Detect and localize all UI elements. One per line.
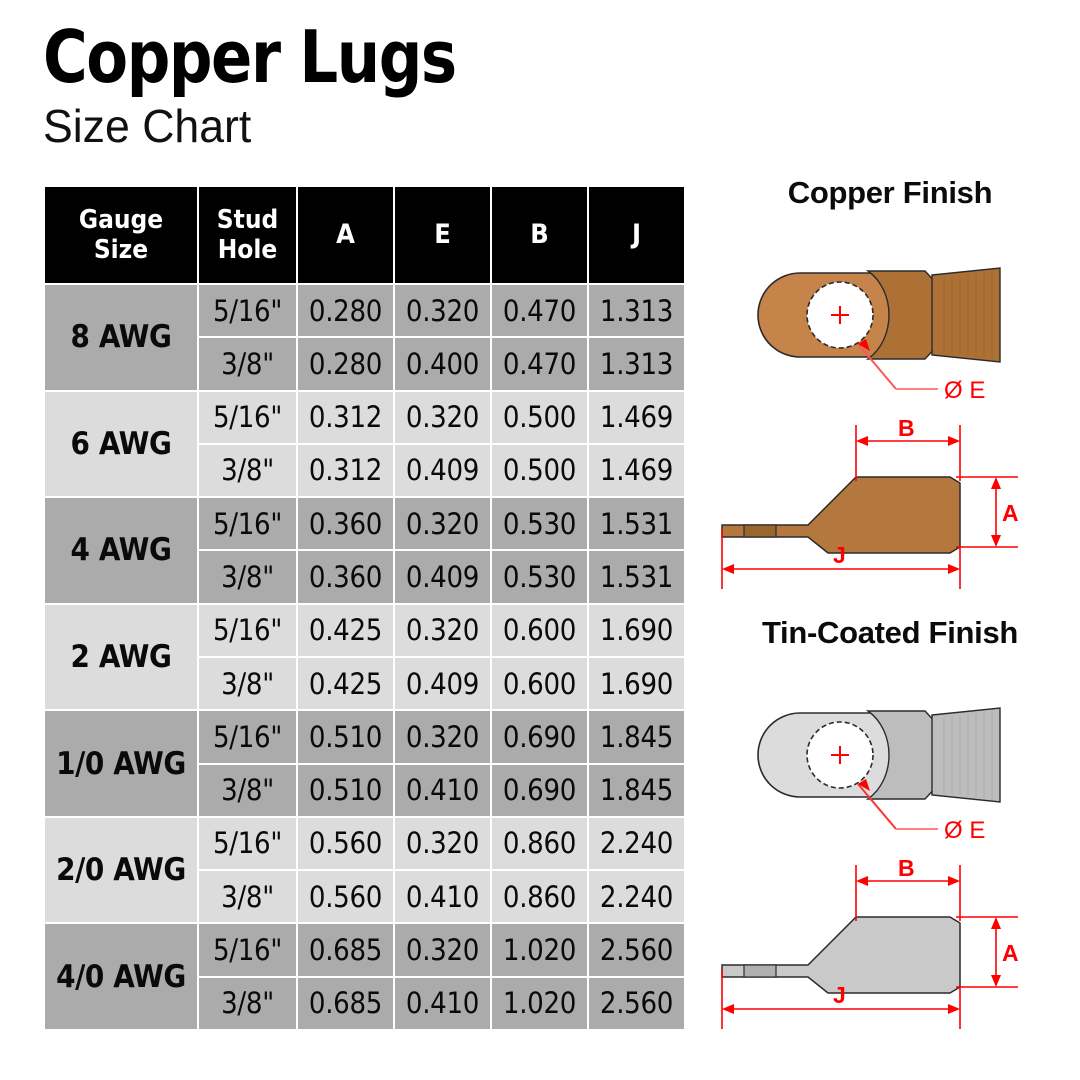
copper-diameter-e-label: Ø E <box>944 377 985 404</box>
copper-barrel-shape <box>932 268 1000 362</box>
stud-hole-cell: 5/16" <box>198 923 297 976</box>
stud-header-line2: Hole <box>199 235 296 265</box>
stud-header-line1: Stud <box>199 205 296 235</box>
dimension-j-cell: 2.560 <box>588 923 685 976</box>
dimension-e-cell: 0.409 <box>394 657 491 710</box>
stud-hole-cell: 3/8" <box>198 444 297 497</box>
stud-hole-cell: 5/16" <box>198 391 297 444</box>
dimension-j-cell: 1.531 <box>588 497 685 550</box>
page-subtitle: Size Chart <box>43 100 664 152</box>
dimension-b-cell: 0.530 <box>491 550 588 603</box>
copper-lug-side-view: B A J <box>700 411 1080 601</box>
dimension-j-cell: 1.313 <box>588 337 685 390</box>
column-header-stud-hole: Stud Hole <box>198 186 297 284</box>
table-row: 2 AWG5/16"0.4250.3200.6001.690 <box>44 604 685 657</box>
table-header: Gauge Size Stud Hole A E B J <box>44 186 685 284</box>
stud-hole-cell: 5/16" <box>198 710 297 763</box>
table-row: 4 AWG5/16"0.3600.3200.5301.531 <box>44 497 685 550</box>
stud-hole-cell: 5/16" <box>198 604 297 657</box>
tin-finish-group: Tin-Coated Finish <box>700 615 1080 1041</box>
gauge-header-line1: Gauge <box>45 205 197 235</box>
dimension-j-cell: 1.690 <box>588 657 685 710</box>
dimension-b-cell: 0.860 <box>491 817 588 870</box>
tin-dimension-j-label: J <box>833 982 846 1008</box>
dimension-b-cell: 0.860 <box>491 870 588 923</box>
table-body: 8 AWG5/16"0.2800.3200.4701.3133/8"0.2800… <box>44 284 685 1030</box>
dimension-b-cell: 0.500 <box>491 391 588 444</box>
copper-finish-heading: Copper Finish <box>700 175 1080 211</box>
column-header-b: B <box>491 186 588 284</box>
dimension-e-cell: 0.320 <box>394 284 491 337</box>
dimension-j-cell: 2.240 <box>588 817 685 870</box>
dimension-a-cell: 0.280 <box>297 284 394 337</box>
dimension-e-cell: 0.320 <box>394 710 491 763</box>
dimension-b-label: B <box>898 415 915 441</box>
dimension-e-cell: 0.410 <box>394 764 491 817</box>
copper-lug-top-view: Ø E <box>700 211 1080 411</box>
dimension-e-cell: 0.320 <box>394 391 491 444</box>
dimension-e-cell: 0.410 <box>394 870 491 923</box>
dimension-e-cell: 0.400 <box>394 337 491 390</box>
column-header-a: A <box>297 186 394 284</box>
title-block: Copper Lugs Size Chart <box>43 18 683 152</box>
dimension-j-cell: 1.690 <box>588 604 685 657</box>
dimension-b-cell: 0.600 <box>491 604 588 657</box>
dimension-a-cell: 0.312 <box>297 391 394 444</box>
stud-hole-cell: 3/8" <box>198 657 297 710</box>
dimension-b-cell: 0.500 <box>491 444 588 497</box>
tin-finish-heading: Tin-Coated Finish <box>700 615 1080 651</box>
dimension-a-label: A <box>1002 500 1019 526</box>
dimension-j-cell: 1.845 <box>588 764 685 817</box>
dimension-a-cell: 0.510 <box>297 764 394 817</box>
gauge-header-line2: Size <box>45 235 197 265</box>
stud-hole-cell: 5/16" <box>198 497 297 550</box>
copper-side-crimp-mark <box>744 525 776 537</box>
dimension-a-cell: 0.280 <box>297 337 394 390</box>
table-row: 8 AWG5/16"0.2800.3200.4701.313 <box>44 284 685 337</box>
dimension-j-cell: 1.313 <box>588 284 685 337</box>
gauge-size-cell: 8 AWG <box>44 284 198 391</box>
dimension-a-cell: 0.360 <box>297 550 394 603</box>
stud-hole-cell: 3/8" <box>198 977 297 1030</box>
dimension-b-cell: 0.600 <box>491 657 588 710</box>
dimension-b-cell: 1.020 <box>491 977 588 1030</box>
stud-hole-cell: 5/16" <box>198 817 297 870</box>
gauge-size-cell: 4/0 AWG <box>44 923 198 1030</box>
dimension-j-cell: 1.845 <box>588 710 685 763</box>
tin-lug-side-view: B A J <box>700 851 1080 1041</box>
dimension-j-cell: 1.469 <box>588 444 685 497</box>
dimension-a-cell: 0.685 <box>297 977 394 1030</box>
dimension-j-label: J <box>833 542 846 568</box>
dimension-a-cell: 0.360 <box>297 497 394 550</box>
gauge-size-cell: 1/0 AWG <box>44 710 198 817</box>
dimension-b-cell: 0.690 <box>491 764 588 817</box>
dimension-b-cell: 0.470 <box>491 337 588 390</box>
gauge-size-cell: 2 AWG <box>44 604 198 711</box>
table-row: 1/0 AWG5/16"0.5100.3200.6901.845 <box>44 710 685 763</box>
dimension-e-cell: 0.320 <box>394 497 491 550</box>
tin-side-crimp-mark <box>744 965 776 977</box>
dimension-a-cell: 0.510 <box>297 710 394 763</box>
dimension-a-cell: 0.312 <box>297 444 394 497</box>
lug-size-table: Gauge Size Stud Hole A E B J 8 AWG5/16"0… <box>43 185 686 1031</box>
copper-finish-group: Copper Finish <box>700 175 1080 601</box>
tin-dimension-a-label: A <box>1002 940 1019 966</box>
tin-diameter-e-label: Ø E <box>944 817 985 844</box>
tin-dimension-b-label: B <box>898 855 915 881</box>
column-header-j: J <box>588 186 685 284</box>
stud-hole-cell: 3/8" <box>198 550 297 603</box>
dimension-e-cell: 0.409 <box>394 550 491 603</box>
dimension-e-cell: 0.320 <box>394 604 491 657</box>
gauge-size-cell: 4 AWG <box>44 497 198 604</box>
dimension-b-cell: 0.690 <box>491 710 588 763</box>
dimension-b-cell: 1.020 <box>491 923 588 976</box>
dimension-e-cell: 0.410 <box>394 977 491 1030</box>
stud-hole-cell: 3/8" <box>198 337 297 390</box>
column-header-e: E <box>394 186 491 284</box>
column-header-gauge-size: Gauge Size <box>44 186 198 284</box>
tin-barrel-shape <box>932 708 1000 802</box>
dimension-b-cell: 0.530 <box>491 497 588 550</box>
table-row: 6 AWG5/16"0.3120.3200.5001.469 <box>44 391 685 444</box>
gauge-size-cell: 2/0 AWG <box>44 817 198 924</box>
stud-hole-cell: 3/8" <box>198 870 297 923</box>
dimension-e-cell: 0.320 <box>394 923 491 976</box>
gauge-size-cell: 6 AWG <box>44 391 198 498</box>
dimension-e-cell: 0.320 <box>394 817 491 870</box>
table-row: 4/0 AWG5/16"0.6850.3201.0202.560 <box>44 923 685 976</box>
page-title: Copper Lugs <box>43 18 645 96</box>
dimension-b-cell: 0.470 <box>491 284 588 337</box>
stud-hole-cell: 3/8" <box>198 764 297 817</box>
dimension-a-cell: 0.560 <box>297 817 394 870</box>
stud-hole-cell: 5/16" <box>198 284 297 337</box>
diagram-column: Copper Finish <box>700 175 1080 1047</box>
table-header-row: Gauge Size Stud Hole A E B J <box>44 186 685 284</box>
dimension-a-cell: 0.425 <box>297 657 394 710</box>
dimension-a-cell: 0.425 <box>297 604 394 657</box>
tin-lug-top-view: Ø E <box>700 651 1080 851</box>
dimension-j-cell: 1.531 <box>588 550 685 603</box>
dimension-j-cell: 2.240 <box>588 870 685 923</box>
dimension-a-cell: 0.560 <box>297 870 394 923</box>
dimension-j-cell: 2.560 <box>588 977 685 1030</box>
dimension-a-cell: 0.685 <box>297 923 394 976</box>
dimension-e-cell: 0.409 <box>394 444 491 497</box>
table-row: 2/0 AWG5/16"0.5600.3200.8602.240 <box>44 817 685 870</box>
dimension-j-cell: 1.469 <box>588 391 685 444</box>
